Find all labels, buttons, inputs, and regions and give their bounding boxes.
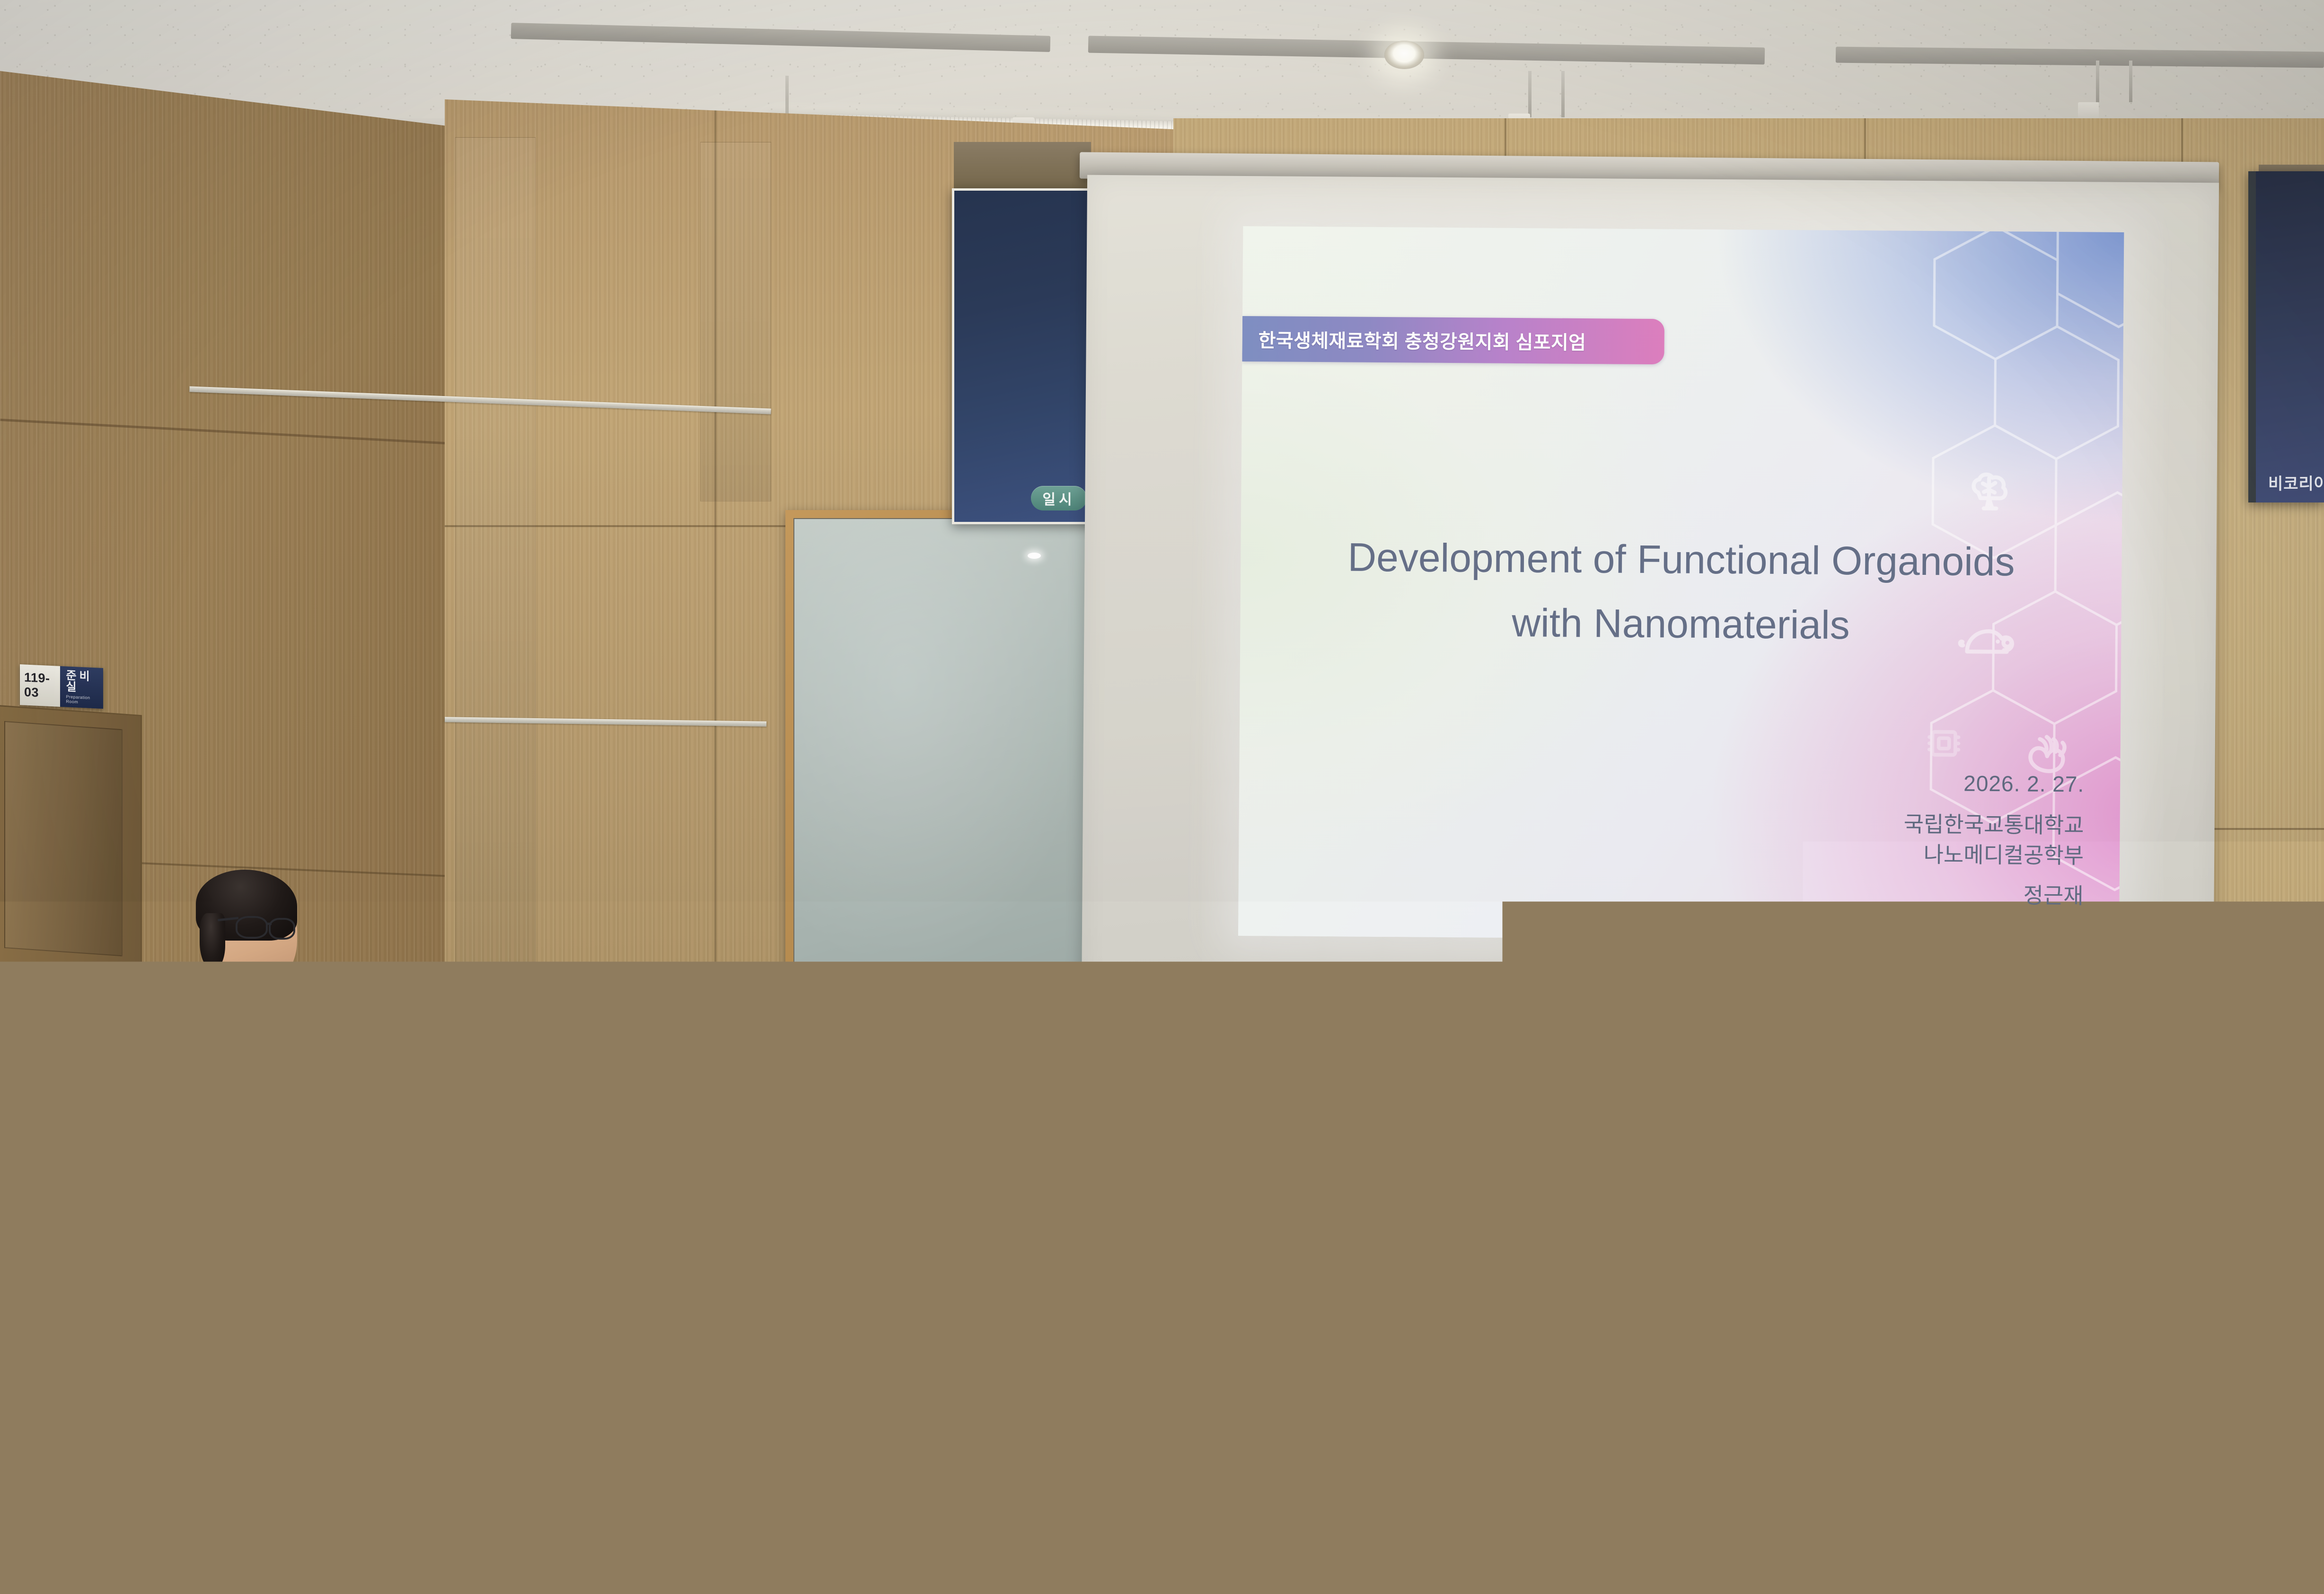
chalkboard-frame: [785, 510, 1126, 1026]
seat-handle[interactable]: [736, 1454, 795, 1485]
banner-right: 비코리아: [2248, 171, 2324, 502]
seat-shell: [1907, 1347, 2183, 1594]
room-sign-name: 준비실 Preparation Room: [60, 666, 103, 709]
recessed-downlight: [1384, 41, 1424, 69]
projector-screen: 한국생체재료학회 충청강원지회 심포지엄 Development of Func…: [1082, 175, 2219, 1011]
chip-icon: [1929, 732, 1959, 755]
speaker-glasses-left-lens: [236, 916, 268, 939]
speaker-sideburn: [200, 913, 225, 969]
ceiling-mic-drop-cable: [651, 1141, 654, 1212]
attendee-front-left-hair: [0, 1098, 112, 1254]
banner-left-surface: 일시: [952, 188, 1097, 524]
banner-left: 일시: [952, 188, 1097, 524]
banner-right-text: 비코리아: [2268, 471, 2324, 494]
badge-text-line-2: [236, 1154, 275, 1156]
speaker-glasses-bridge: [266, 923, 272, 925]
wall-pilaster-2: [700, 142, 771, 502]
seat-row-front-left-2[interactable]: [255, 1334, 568, 1594]
seat-row-front-left-1[interactable]: [0, 1363, 255, 1594]
badge-text-line-1: [231, 1151, 281, 1153]
room-sign-name-kr: 준비실: [66, 670, 97, 694]
seat-shell: [607, 1429, 918, 1594]
door-handle[interactable]: [102, 1016, 112, 1063]
wall-left-seam-1: [0, 419, 454, 445]
slide-presenter: 정근재: [1903, 880, 2083, 911]
room-sign-number: 119-03: [20, 664, 60, 707]
room-sign: 119-03 준비실 Preparation Room: [20, 664, 103, 709]
light-hanger-rod-3: [1561, 71, 1565, 117]
slide-conference-banner: 한국생체재료학회 충청강원지회 심포지엄: [1242, 316, 1664, 364]
seat-shell: [277, 1443, 546, 1594]
speaker-arm-right: [295, 1026, 366, 1218]
seat-shell: [1664, 1477, 1877, 1594]
slide-presenter-block: 2026. 2. 27. 국립한국교통대학교 나노메디컬공학부 정근재: [1903, 768, 2084, 912]
stage-panel-3: [1300, 1025, 1301, 1290]
seat-handle[interactable]: [388, 1466, 440, 1493]
projected-slide: 한국생체재료학회 충청강원지회 심포지엄 Development of Func…: [1238, 226, 2124, 942]
seat-row-front-center[interactable]: [582, 1306, 942, 1594]
brain-icon: [1973, 475, 2006, 509]
lecture-hall-photo: 119-03 준비실 Preparation Room 일시 비코리아: [0, 0, 2324, 1594]
seat-shell: [0, 1465, 235, 1594]
banner-left-top-strip: [954, 142, 1091, 194]
banner-right-surface: 비코리아: [2248, 171, 2324, 502]
banner-left-pill-label: 일시: [1031, 486, 1087, 511]
light-hanger-rod-4: [2096, 61, 2099, 102]
stage-panel-6: [2205, 1025, 2206, 1290]
speaker-name-badge: 정근재: [223, 1124, 288, 1175]
slide-conference-banner-label: 한국생체재료학회 충청강원지회 심포지엄: [1242, 325, 1586, 355]
slide-title: Development of Functional Organoids with…: [1240, 524, 2122, 659]
seat-right-neighbor[interactable]: [2167, 1259, 2324, 1594]
slide-date: 2026. 2. 27.: [1904, 768, 2084, 800]
stage-panel-4: [1609, 1025, 1610, 1290]
slide-affiliation: 국립한국교통대학교: [1903, 810, 2084, 841]
door-panel-upper: [4, 721, 123, 956]
slide-department: 나노메디컬공학부: [1903, 840, 2084, 871]
seat-handle[interactable]: [2019, 1368, 2073, 1396]
seat-right-front[interactable]: [1646, 1410, 1893, 1594]
wall-pilaster-1: [455, 137, 536, 1145]
seat-shell: [2187, 1361, 2324, 1594]
chalkboard-surface: [793, 518, 1118, 1018]
light-hanger-rod-2: [1528, 71, 1532, 117]
heart-icon: [2030, 737, 2064, 771]
speaker-badge-name: 정근재: [241, 1158, 270, 1172]
attendee-front-left-neck: [0, 1233, 46, 1304]
chalkboard-light-reflection: [1028, 553, 1041, 559]
room-sign-name-en: Preparation Room: [66, 694, 97, 705]
speaker-glasses-right-lens: [269, 918, 295, 940]
light-hanger-rod-5: [2129, 61, 2132, 102]
